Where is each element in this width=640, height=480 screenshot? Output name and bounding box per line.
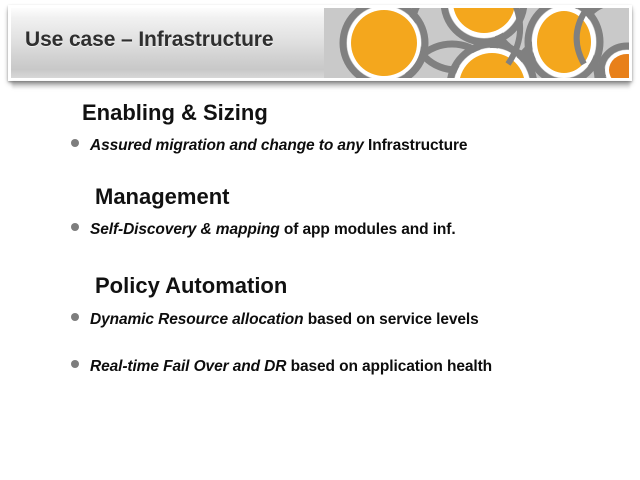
slide-body: Enabling & Sizing Assured migration and … <box>0 100 640 376</box>
bullet-text: Self-Discovery & mapping of app modules … <box>90 221 456 239</box>
section-management: Management Self-Discovery & mapping of a… <box>0 184 640 239</box>
bullet-dot-icon <box>71 223 79 231</box>
bullet-rest: based on application health <box>286 358 492 375</box>
overlapping-circles-graphic <box>324 8 629 78</box>
section-heading: Management <box>95 184 640 210</box>
bullet-emphasis: Self-Discovery & mapping <box>90 221 280 238</box>
section-heading: Policy Automation <box>95 273 640 299</box>
list-item: Real-time Fail Over and DR based on appl… <box>71 358 640 376</box>
list-item: Assured migration and change to any Infr… <box>71 137 640 155</box>
list-item: Dynamic Resource allocation based on ser… <box>71 311 640 329</box>
bullet-rest: Infrastructure <box>364 137 468 154</box>
page-title: Use case – Infrastructure <box>25 28 273 52</box>
section-enabling-sizing: Enabling & Sizing Assured migration and … <box>0 100 640 155</box>
slide-title-banner: Use case – Infrastructure <box>8 5 632 81</box>
bullet-emphasis: Real-time Fail Over and DR <box>90 358 286 375</box>
bullet-text: Dynamic Resource allocation based on ser… <box>90 311 479 329</box>
bullet-emphasis: Dynamic Resource allocation <box>90 311 304 328</box>
bullet-dot-icon <box>71 313 79 321</box>
bullet-rest: based on service levels <box>304 311 479 328</box>
banner-drop-shadow <box>12 82 630 90</box>
bullet-dot-icon <box>71 139 79 147</box>
bullet-emphasis: Assured migration and change to any <box>90 137 364 154</box>
section-policy-automation: Policy Automation Dynamic Resource alloc… <box>0 273 640 376</box>
slide-canvas: Use case – Infrastructure Enabling & Siz… <box>0 0 640 480</box>
bullet-text: Real-time Fail Over and DR based on appl… <box>90 358 492 376</box>
list-item: Self-Discovery & mapping of app modules … <box>71 221 640 239</box>
section-heading: Enabling & Sizing <box>82 100 640 126</box>
bullet-dot-icon <box>71 360 79 368</box>
bullet-rest: of app modules and inf. <box>280 221 456 238</box>
bullet-text: Assured migration and change to any Infr… <box>90 137 467 155</box>
